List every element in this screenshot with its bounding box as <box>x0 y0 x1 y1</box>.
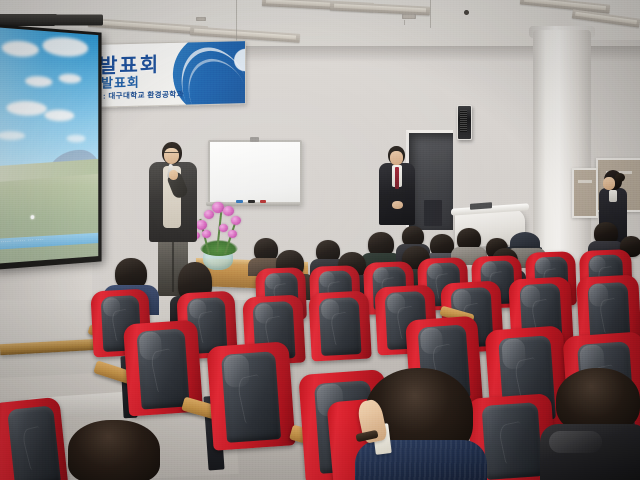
orchid-bloom <box>204 210 214 219</box>
audience-head <box>457 228 481 258</box>
seat-gloss <box>453 289 472 311</box>
orchid-bloom <box>223 206 234 216</box>
seat-gloss <box>589 283 609 306</box>
glasses-icon <box>164 152 179 156</box>
orchid-bloom <box>202 230 211 238</box>
suitman-face <box>390 151 403 165</box>
leather-jacket <box>540 424 640 480</box>
wall-speaker <box>457 105 472 140</box>
seat-gloss <box>501 338 526 370</box>
whiteboard <box>208 140 302 206</box>
banner-subtitle: 발표회 <box>101 72 140 92</box>
auditorium-seat[interactable] <box>0 397 69 480</box>
ceiling-seam <box>236 0 237 46</box>
seat-panel <box>482 402 542 480</box>
auditorium-seat[interactable] <box>206 341 295 450</box>
suitman-hands <box>392 201 403 209</box>
presenter-hand <box>169 170 178 180</box>
seminar-hall-photo: 발표회 발표회 : 대구대학교 환경공학과 ····· ······ ··· ·… <box>0 0 640 480</box>
audience-foreground-leather-jacket <box>540 376 640 480</box>
seat-gloss <box>319 271 335 287</box>
man-in-black-suit <box>378 146 416 230</box>
seat-gloss <box>427 263 443 279</box>
whiteboard-clip <box>250 137 259 142</box>
audience-foreground-left-head <box>68 420 160 480</box>
ceiling-vent <box>196 17 206 21</box>
projected-ground <box>0 168 98 264</box>
cloud <box>67 134 86 142</box>
woman-collar <box>609 190 617 202</box>
woman-hair-bun <box>615 173 625 182</box>
seat-gloss <box>521 285 541 308</box>
seat-gloss <box>224 354 251 387</box>
seat-gloss <box>373 267 389 283</box>
projection-screen: ····· ······ ··· ···· <box>0 24 102 270</box>
projected-image: ····· ······ ··· ···· <box>0 27 98 264</box>
audience-head <box>254 238 278 268</box>
projector-screen-roller <box>0 14 103 26</box>
projected-caption-text: ····· ······ ··· ···· <box>1 237 44 246</box>
seat-gloss <box>265 273 281 289</box>
necktie <box>395 167 399 189</box>
seat-gloss <box>420 327 443 355</box>
auditorium-seat[interactable] <box>308 290 371 361</box>
seat-gloss <box>481 261 497 277</box>
seat-panel <box>7 406 61 480</box>
ceiling-seam <box>404 20 405 25</box>
orchid-bloom <box>231 216 241 225</box>
ceiling-seam <box>430 0 431 28</box>
presenter-leg-split <box>172 242 174 292</box>
seat-gloss <box>535 257 551 274</box>
presenter-face <box>164 148 179 164</box>
cloud <box>44 109 74 121</box>
orchid-bloom <box>228 230 237 238</box>
seat-gloss <box>138 331 162 360</box>
notice-board-panel <box>572 168 598 218</box>
orchid-bloom <box>219 224 228 232</box>
projected-highlight <box>31 215 35 219</box>
event-banner: 발표회 발표회 : 대구대학교 환경공학과 <box>92 40 246 108</box>
orchid-stem <box>216 212 222 252</box>
audience-head <box>594 222 618 252</box>
audience-head <box>368 232 394 264</box>
ceiling-sensor <box>464 10 469 15</box>
banner-organization: : 대구대학교 환경공학과 <box>103 89 184 102</box>
woman-face <box>603 177 615 190</box>
doorway-shadow <box>424 200 442 226</box>
whiteboard-marker <box>260 200 266 203</box>
whiteboard-marker <box>248 200 255 203</box>
ceiling-vent <box>402 14 416 19</box>
